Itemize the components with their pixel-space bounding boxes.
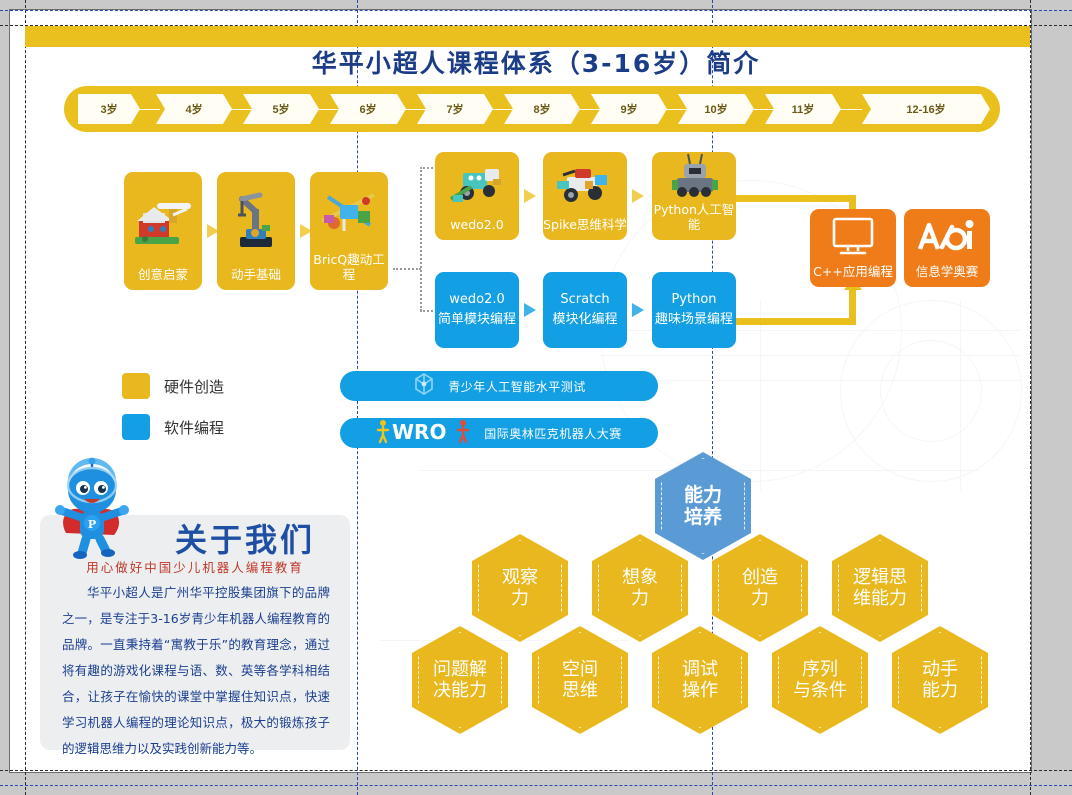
hex-label: 创造 力 [742, 567, 778, 609]
guide-bleed-bottom [0, 785, 1072, 786]
hex-label-line1: 问题解 [433, 659, 487, 680]
banner-label: 青少年人工智能水平测试 [448, 378, 586, 395]
hex-label-line2: 思维 [562, 680, 598, 701]
course-label: 信息学奥赛 [916, 264, 979, 287]
hex-label: 空间 思维 [562, 659, 598, 701]
about-title: 关于我们 [175, 515, 315, 561]
superhero-robot-mascot: P [48, 455, 136, 560]
age-label: 11岁 [792, 101, 815, 117]
age-chip-3[interactable]: 3岁 [78, 94, 140, 124]
hex-label-line1: 空间 [562, 659, 598, 680]
course-card-scratch[interactable]: Scratch 模块化编程 [543, 272, 627, 348]
course-label-line1: wedo2.0 [449, 290, 505, 310]
age-chip-10[interactable]: 10岁 [678, 94, 754, 124]
about-body: 华平小超人是广州华平控股集团旗下的品牌之一，是专注于3-16岁青少年机器人编程教… [62, 580, 330, 762]
wedo-robot-icon [435, 152, 519, 217]
hex-label-line2: 培养 [684, 506, 722, 528]
age-chip-12-16[interactable]: 12-16岁 [862, 94, 990, 124]
hex-label-line2: 力 [751, 588, 769, 609]
course-label: wedo2.0 [450, 217, 503, 240]
noi-logo-icon [904, 209, 990, 264]
age-label: 9岁 [620, 101, 637, 117]
course-card-python-ai[interactable]: Python人工智能 [652, 152, 736, 240]
age-chip-6[interactable]: 6岁 [330, 94, 406, 124]
course-card-python-sw[interactable]: Python 趣味场景编程 [652, 272, 736, 348]
page-title: 华平小超人课程体系（3-16岁）简介 [0, 44, 1072, 80]
hex-label: 想象 力 [622, 567, 658, 609]
hex-label-line1: 序列 [802, 659, 838, 680]
hex-label-line2: 与条件 [793, 680, 847, 701]
hex-label-line2: 力 [631, 588, 649, 609]
flow-arrow-icon [632, 189, 644, 203]
course-card-bricq[interactable]: BricQ趣动工程 [310, 172, 388, 290]
age-chip-8[interactable]: 8岁 [504, 94, 580, 124]
spike-car-icon [543, 152, 627, 217]
banner-ai-test[interactable]: 青少年人工智能水平测试 [340, 371, 658, 401]
hex-label-line1: 能力 [684, 484, 722, 506]
connector-top [736, 195, 856, 202]
age-chip-5[interactable]: 5岁 [243, 94, 319, 124]
course-label: Scratch 模块化编程 [552, 272, 617, 348]
course-card-dongshou-jichu[interactable]: 动手基础 [217, 172, 295, 290]
course-label-line1: Python [671, 290, 716, 310]
flow-arrow-icon [524, 303, 536, 317]
bricq-model-icon [310, 172, 388, 252]
hex-label-line2: 维能力 [853, 588, 907, 609]
course-card-wedo20-sw[interactable]: wedo2.0 简单模块编程 [435, 272, 519, 348]
hex-label-line1: 调试 [682, 659, 718, 680]
connector-bottom [736, 318, 856, 325]
hex-label: 问题解 决能力 [433, 659, 487, 701]
bracket-line [420, 167, 422, 311]
about-subtitle: 用心做好中国少儿机器人编程教育 [40, 557, 350, 576]
hex-label: 逻辑思 维能力 [853, 567, 907, 609]
age-label: 8岁 [533, 101, 550, 117]
hex-label: 观察 力 [502, 567, 538, 609]
poster-root: 华平小超人课程体系（3-16岁）简介 3岁 4岁 5岁 6岁 7岁 8岁 9岁 … [0, 0, 1072, 795]
svg-text:P: P [88, 518, 96, 531]
hex-label-line2: 决能力 [433, 680, 487, 701]
legend-label-software: 软件编程 [164, 417, 224, 438]
course-card-chuangyi-qimeng[interactable]: 创意启蒙 [124, 172, 202, 290]
flow-arrow-icon [632, 303, 644, 317]
course-label: Spike思维科学 [543, 217, 627, 240]
hex-label: 调试 操作 [682, 659, 718, 701]
course-card-wedo20-hw[interactable]: wedo2.0 [435, 152, 519, 240]
bracket-line [393, 268, 421, 270]
wro-logo-icon: WRO [376, 418, 472, 449]
hex-label-line2: 力 [511, 588, 529, 609]
age-label: 10岁 [704, 101, 727, 117]
legend-swatch-software [122, 414, 150, 440]
legend-swatch-hardware [122, 373, 150, 399]
age-chip-9[interactable]: 9岁 [591, 94, 667, 124]
hex-label-line1: 动手 [922, 659, 958, 680]
flow-arrow-icon [524, 189, 536, 203]
hex-label: 能力 培养 [684, 484, 722, 529]
connector-bottom-up [849, 288, 856, 322]
course-card-cpp[interactable]: C++应用编程 [810, 209, 896, 287]
course-label: 动手基础 [231, 267, 281, 290]
age-timeline: 3岁 4岁 5岁 6岁 7岁 8岁 9岁 10岁 11岁 12-16岁 [64, 86, 1000, 132]
hex-label-line2: 能力 [922, 680, 958, 701]
hex-label-line1: 创造 [742, 567, 778, 588]
hex-label-line1: 逻辑思 [853, 567, 907, 588]
course-label: Python 趣味场景编程 [655, 272, 733, 348]
ai-tank-robot-icon [652, 148, 736, 202]
age-label: 7岁 [446, 101, 463, 117]
course-label-line2: 模块化编程 [552, 310, 617, 330]
legend-label-hardware: 硬件创造 [164, 376, 224, 397]
course-card-spike[interactable]: Spike思维科学 [543, 152, 627, 240]
age-label: 12-16岁 [906, 101, 945, 117]
lego-house-icon [124, 172, 202, 267]
course-label: C++应用编程 [813, 264, 893, 287]
hex-label-line1: 想象 [622, 567, 658, 588]
course-label: wedo2.0 简单模块编程 [438, 272, 516, 348]
age-chip-4[interactable]: 4岁 [156, 94, 232, 124]
hex-label-line2: 操作 [682, 680, 718, 701]
banner-wro[interactable]: WRO 国际奥林匹克机器人大赛 [340, 418, 658, 448]
svg-text:WRO: WRO [392, 420, 446, 444]
course-label-line2: 趣味场景编程 [655, 310, 733, 330]
course-card-noi[interactable]: 信息学奥赛 [904, 209, 990, 287]
robot-arm-icon [217, 172, 295, 267]
age-label: 5岁 [272, 101, 289, 117]
course-label: BricQ趣动工程 [310, 252, 388, 290]
hex-label-line1: 观察 [502, 567, 538, 588]
banner-label: 国际奥林匹克机器人大赛 [484, 425, 622, 442]
age-chip-11[interactable]: 11岁 [765, 94, 841, 124]
age-label: 3岁 [100, 101, 117, 117]
hex-label: 动手 能力 [922, 659, 958, 701]
age-label: 4岁 [185, 101, 202, 117]
monitor-icon [810, 209, 896, 264]
course-label: Python人工智能 [652, 202, 736, 240]
age-chip-7[interactable]: 7岁 [417, 94, 493, 124]
age-label: 6岁 [359, 101, 376, 117]
course-label-line1: Scratch [560, 290, 609, 310]
course-label-line2: 简单模块编程 [438, 310, 516, 330]
ai-cube-icon [412, 372, 436, 401]
course-label: 创意启蒙 [138, 267, 188, 290]
hex-label: 序列 与条件 [793, 659, 847, 701]
